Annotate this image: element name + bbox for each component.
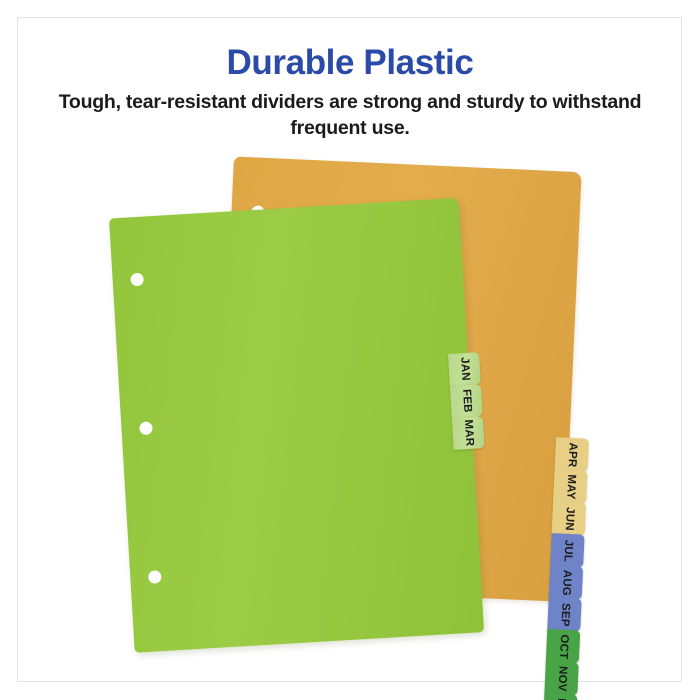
green-sheet-tab-stack: JANFEBMAR xyxy=(448,352,488,454)
green-divider-sheet xyxy=(109,198,484,653)
divider-tab-jan: JAN xyxy=(448,352,481,386)
divider-tab-label: AUG xyxy=(559,569,572,596)
divider-tab-label: OCT xyxy=(556,634,569,659)
product-photo: APRMAYJUNJULAUGSEPOCTNOVDEC JANFEBMAR xyxy=(0,150,700,680)
divider-tab-label: APR xyxy=(565,442,578,467)
divider-tab-jun: JUN xyxy=(552,501,586,535)
divider-tab-jul: JUL xyxy=(550,533,584,567)
divider-tab-label: JUN xyxy=(562,506,575,530)
divider-tab-label: SEP xyxy=(558,602,571,626)
divider-tab-mar: MAR xyxy=(452,416,485,450)
divider-tab-nov: NOV xyxy=(544,661,578,695)
divider-tab-label: MAR xyxy=(461,419,475,446)
text-block: Durable Plastic Tough, tear-resistant di… xyxy=(0,44,700,141)
divider-tab-sep: SEP xyxy=(547,597,581,631)
punch-hole xyxy=(148,570,162,584)
divider-tab-feb: FEB xyxy=(450,384,483,418)
divider-tab-oct: OCT xyxy=(546,629,580,663)
divider-tab-aug: AUG xyxy=(549,565,583,599)
divider-tab-apr: APR xyxy=(555,437,589,471)
punch-hole xyxy=(130,273,144,287)
divider-tab-label: NOV xyxy=(555,665,568,691)
punch-hole xyxy=(139,421,153,435)
divider-tab-label: JUL xyxy=(561,539,574,562)
divider-tab-label: FEB xyxy=(460,389,473,413)
divider-tab-label: JAN xyxy=(458,357,471,381)
product-feature-image: Durable Plastic Tough, tear-resistant di… xyxy=(0,0,700,700)
divider-tab-label: MAY xyxy=(564,474,577,500)
subtitle-text: Tough, tear-resistant dividers are stron… xyxy=(55,90,645,141)
divider-tab-may: MAY xyxy=(553,469,587,503)
divider-tab-dec: DEC xyxy=(543,693,577,700)
page-title: Durable Plastic xyxy=(0,44,700,82)
